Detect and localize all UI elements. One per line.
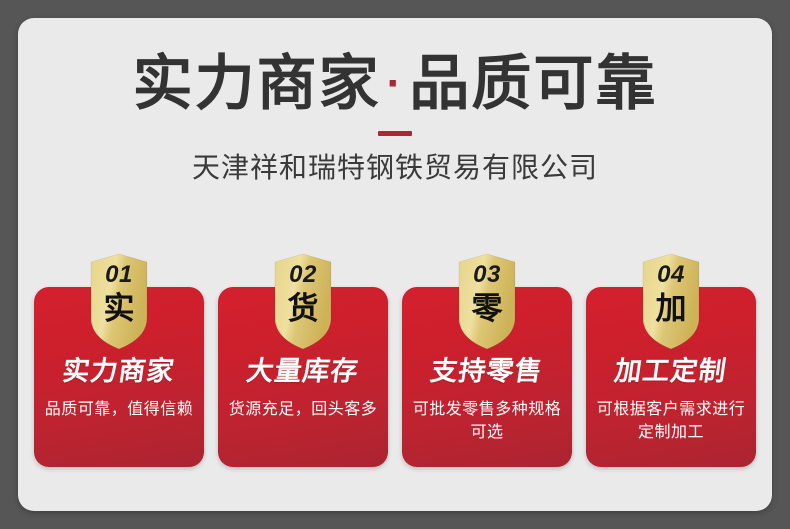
page-title: 实力商家·品质可靠 (18, 18, 772, 115)
feature-card: 支持零售 可批发零售多种规格可选 (402, 254, 572, 467)
feature-card-content: 支持零售 可批发零售多种规格可选 (402, 349, 572, 444)
title-separator-dot: · (381, 61, 410, 107)
feature-card-list: 实力商家 品质可靠，值得信赖 (18, 254, 772, 467)
shield-badge: 01 实 (81, 254, 157, 362)
title-right: 品质可靠 (409, 50, 657, 117)
shield-badge: 04 加 (633, 254, 709, 362)
promo-banner: 实力商家·品质可靠 天津祥和瑞特钢铁贸易有限公司 实力商家 品质可靠，值得信赖 (0, 0, 790, 529)
feature-card-description: 可批发零售多种规格可选 (410, 399, 564, 444)
banner-header: 实力商家·品质可靠 天津祥和瑞特钢铁贸易有限公司 (18, 18, 772, 186)
feature-card: 大量库存 货源充足，回头客多 (218, 254, 388, 467)
feature-card-description: 可根据客户需求进行定制加工 (594, 399, 748, 444)
title-left: 实力商家 (133, 50, 381, 117)
shield-badge: 02 货 (265, 254, 341, 362)
shield-badge: 03 零 (449, 254, 525, 362)
banner-panel: 实力商家·品质可靠 天津祥和瑞特钢铁贸易有限公司 实力商家 品质可靠，值得信赖 (18, 18, 772, 511)
feature-card-content: 加工定制 可根据客户需求进行定制加工 (586, 349, 756, 444)
feature-card-description: 货源充足，回头客多 (226, 399, 380, 422)
feature-card-description: 品质可靠，值得信赖 (42, 399, 196, 422)
feature-card: 加工定制 可根据客户需求进行定制加工 (586, 254, 756, 467)
title-divider (378, 131, 412, 136)
feature-card: 实力商家 品质可靠，值得信赖 (34, 254, 204, 467)
company-name: 天津祥和瑞特钢铁贸易有限公司 (18, 146, 772, 186)
